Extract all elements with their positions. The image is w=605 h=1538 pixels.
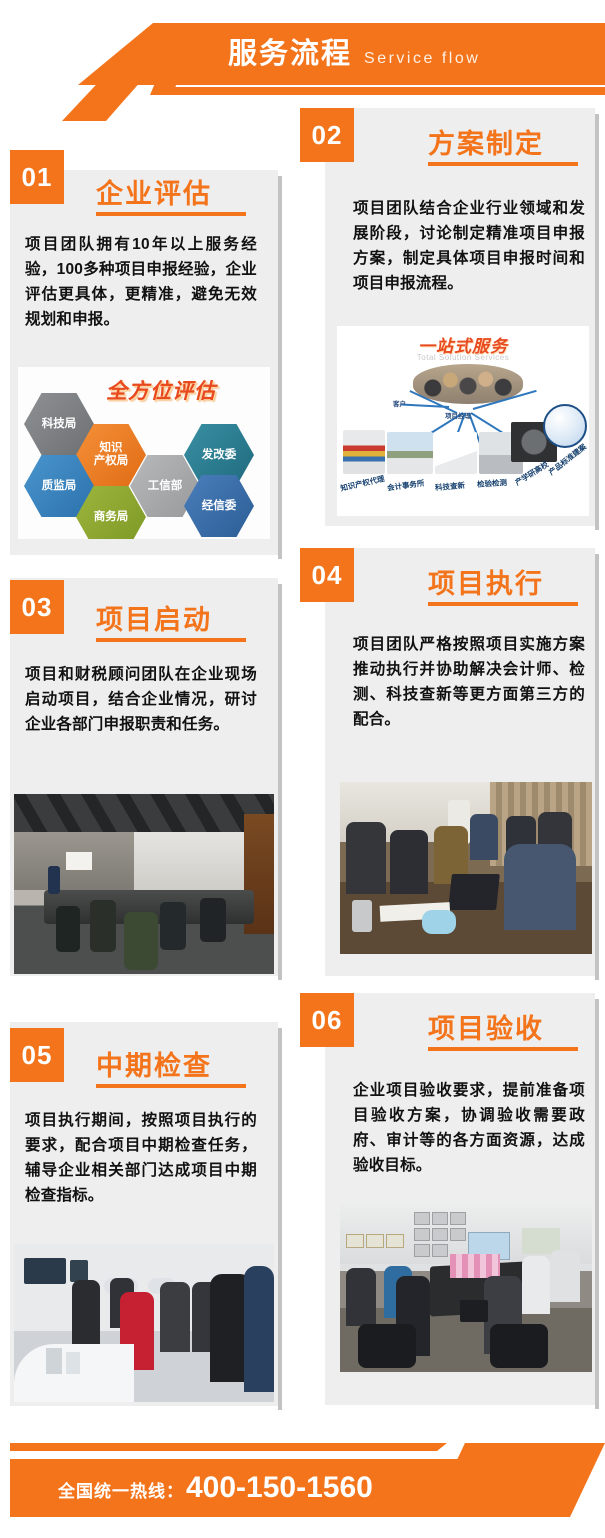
ph-flowers: [450, 1254, 500, 1278]
step-number-badge-05: 05: [10, 1028, 64, 1082]
ph-chair: [490, 1324, 548, 1368]
footer-hotline-label: 全国统一热线：: [58, 1477, 184, 1502]
oss-caption: 科技查新: [435, 480, 466, 494]
oss-caption: 检验检测: [477, 477, 508, 490]
step-body-03: 项目和财税顾问团队在企业现场启动项目，结合企业情况，研讨企业各部门申报职责和任务…: [25, 662, 257, 737]
step-title-01: 企业评估: [96, 172, 212, 211]
hex-node-label: 科技局: [42, 418, 77, 431]
step-number-badge-06: 06: [300, 993, 354, 1047]
footer-diagonal-stripe: [430, 1443, 605, 1517]
ph-award-frame: [346, 1234, 364, 1248]
hex-node-label: 工信部: [148, 480, 183, 493]
hex-diagram-title: 全方位评估: [106, 375, 216, 405]
ph-monitor: [70, 1260, 88, 1282]
oss-node-accounting: [387, 432, 433, 474]
hex-node-label: 商务局: [94, 511, 129, 524]
ph-award-frame: [366, 1234, 384, 1248]
step-number-badge-04: 04: [300, 548, 354, 602]
ph-certificate-frame: [432, 1244, 448, 1257]
ph-person: [72, 1280, 100, 1344]
hex-assessment-diagram: 全方位评估 科技局 知识 产权局 质监局 商务局 工信部 发改委 经信委: [18, 367, 270, 539]
ph-display-item: [66, 1352, 80, 1374]
step-title-underline-03: [96, 638, 246, 642]
oss-caption: 会计事务所: [386, 477, 425, 493]
ph-kettle: [352, 900, 372, 932]
oss-client-label: 客户: [393, 398, 406, 408]
page-title: 服务流程: [228, 34, 352, 74]
ph-person-green-coat: [124, 912, 158, 970]
header-title-group: 服务流程 Service flow: [228, 34, 480, 79]
hex-node-label: 知识 产权局: [94, 442, 129, 468]
ph-award-frame: [386, 1234, 404, 1248]
oss-subtitle: Total Solution Services: [337, 353, 589, 362]
step-title-02: 方案制定: [428, 122, 544, 161]
ph-certificate-frame: [432, 1212, 448, 1225]
step-title-underline-06: [428, 1047, 578, 1051]
ph-certificate-frame: [414, 1212, 430, 1225]
ph-ceiling: [14, 794, 274, 834]
ph-person-white-shirt: [522, 1256, 550, 1314]
ph-person-standing: [48, 866, 60, 894]
step-title-underline-04: [428, 602, 578, 606]
ph-chair: [160, 902, 186, 950]
photo-showroom-visit: [14, 1244, 274, 1402]
oss-node-ip: [343, 430, 385, 474]
oss-center-label: 项目经理: [445, 410, 471, 420]
page-subtitle: Service flow: [364, 39, 480, 79]
ph-display-item: [46, 1348, 62, 1374]
step-title-04: 项目执行: [428, 562, 544, 601]
step-title-03: 项目启动: [96, 598, 212, 637]
ph-certificate-frame: [450, 1212, 466, 1225]
oss-node-techsearch: [435, 432, 477, 474]
photo-meeting-laptops: [340, 782, 592, 954]
ph-person-foreground: [244, 1266, 274, 1392]
step-title-underline-01: [96, 212, 246, 216]
step-title-underline-02: [428, 162, 578, 166]
step-title-05: 中期检查: [96, 1044, 212, 1083]
photo-conference-room: [14, 794, 274, 974]
ph-bag: [422, 910, 456, 934]
step-body-05: 项目执行期间，按照项目执行的要求，配合项目中期检查任务，辅导企业相关部门达成项目…: [25, 1108, 257, 1208]
ph-chair: [200, 898, 226, 942]
ph-certificate-frame: [414, 1228, 430, 1241]
page-footer: 全国统一热线： 400-150-1560: [0, 1443, 605, 1515]
step-number-badge-01: 01: [10, 150, 64, 204]
step-body-02: 项目团队结合企业行业领域和发展阶段，讨论制定精准项目申报方案，制定具体项目申报时…: [353, 196, 585, 296]
ph-person-white-shirt: [550, 1250, 580, 1302]
step-body-01: 项目团队拥有10年以上服务经验，100多种项目申报经验，企业评估更具体，更精准，…: [25, 232, 257, 332]
hex-node-label: 发改委: [202, 449, 237, 462]
step-number-badge-02: 02: [300, 108, 354, 162]
step-body-06: 企业项目验收要求，提前准备项目验收方案，协调验收需要政府、审计等的各方面资源，达…: [353, 1078, 585, 1178]
hex-node-label: 质监局: [42, 480, 77, 493]
ph-whiteboard: [66, 852, 92, 870]
ph-chair: [358, 1324, 416, 1368]
step-title-06: 项目验收: [428, 1007, 544, 1046]
step-body-04: 项目团队严格按照项目实施方案推动执行并协助解决会计师、检测、科技查新等更方面第三…: [353, 632, 585, 732]
ph-person: [346, 822, 386, 894]
ph-laptop: [448, 874, 500, 910]
ph-person-foreground: [504, 844, 576, 930]
ph-chair: [90, 900, 116, 952]
footer-hotline-number[interactable]: 400-150-1560: [186, 1471, 373, 1505]
photo-acceptance-meeting: [340, 1204, 592, 1372]
ph-white-wall: [134, 832, 244, 890]
ph-person: [160, 1282, 190, 1352]
step-title-underline-05: [96, 1084, 246, 1088]
oss-caption: 知识产权代理: [339, 473, 385, 494]
footer-hotline: 全国统一热线： 400-150-1560: [58, 1471, 373, 1505]
ph-person: [470, 814, 498, 860]
ph-certificate-frame: [432, 1228, 448, 1241]
one-stop-service-diagram: 一站式服务 Total Solution Services 客户 项目经理 知识…: [337, 326, 589, 516]
ph-certificate-frame: [414, 1244, 430, 1257]
ph-laptop: [460, 1300, 488, 1322]
ph-certificate-frame: [450, 1228, 466, 1241]
ph-person: [346, 1268, 376, 1326]
ph-chair: [56, 906, 80, 952]
step-number-badge-03: 03: [10, 580, 64, 634]
ph-person: [390, 830, 428, 894]
ph-monitor: [24, 1258, 66, 1284]
hex-node-label: 经信委: [202, 500, 237, 513]
page-header: 服务流程 Service flow: [0, 0, 605, 110]
